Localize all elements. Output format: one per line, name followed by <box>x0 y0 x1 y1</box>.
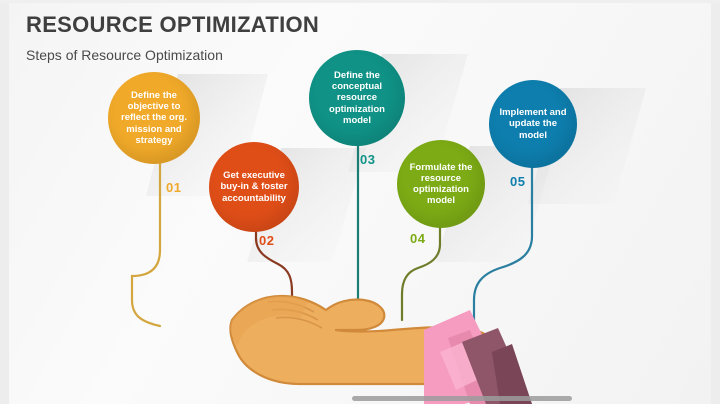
slide-canvas: RESOURCE OPTIMIZATION Steps of Resource … <box>0 0 720 404</box>
step-label-1: Define the objective to reflect the org.… <box>108 90 200 146</box>
slide-left-border <box>0 0 9 404</box>
step-label-4: Formulate the resource optimization mode… <box>397 162 485 207</box>
step-balloon-3[interactable]: Define the conceptual resource optimizat… <box>309 50 405 146</box>
page-title: RESOURCE OPTIMIZATION <box>26 12 319 38</box>
step-label-5: Implement and update the model <box>489 107 577 141</box>
slide-top-border <box>0 0 720 3</box>
step-balloon-2[interactable]: Get executive buy-in & foster accountabi… <box>209 142 299 232</box>
base-bar <box>352 396 572 401</box>
step-number-2: 02 <box>259 233 274 248</box>
step-label-3: Define the conceptual resource optimizat… <box>309 70 405 126</box>
page-subtitle: Steps of Resource Optimization <box>26 47 223 63</box>
step-number-1: 01 <box>166 180 181 195</box>
step-balloon-5[interactable]: Implement and update the model <box>489 80 577 168</box>
step-balloon-1[interactable]: Define the objective to reflect the org.… <box>108 72 200 164</box>
step-label-2: Get executive buy-in & foster accountabi… <box>209 170 299 204</box>
step-balloon-4[interactable]: Formulate the resource optimization mode… <box>397 140 485 228</box>
step-number-4: 04 <box>410 231 425 246</box>
step-number-3: 03 <box>360 152 375 167</box>
step-number-5: 05 <box>510 174 525 189</box>
slide-right-border <box>711 0 720 404</box>
